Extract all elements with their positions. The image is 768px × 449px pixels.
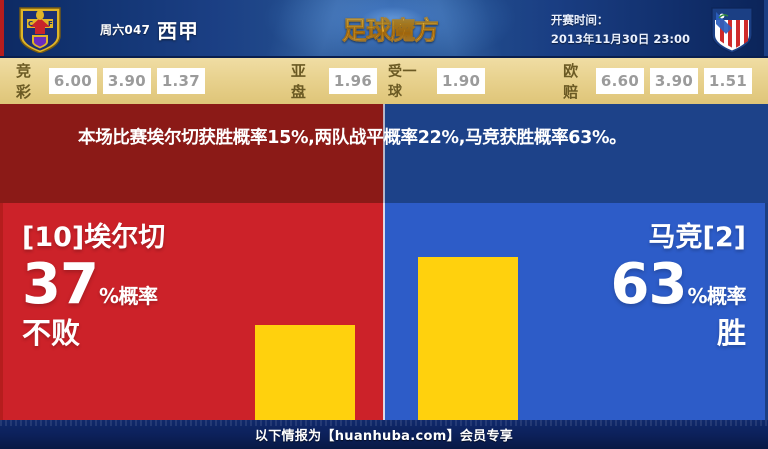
away-team-info: 马竞[2] 63 %概率 胜 [496,221,746,351]
home-team-info: [10]埃尔切 37 %概率 不败 [22,221,272,351]
odds-jingcai-away[interactable]: 1.37 [157,68,205,94]
kickoff-label: 开赛时间： [551,12,609,28]
odds-label-asia: 亚盘 [291,60,319,102]
atletico-madrid-crest-icon [708,5,756,53]
home-outcome-label: 不败 [22,315,272,351]
home-probability-value: 37 [22,257,98,313]
odds-group-jingcai: 竞彩 6.00 3.90 1.37 [16,60,205,102]
odds-jingcai-draw[interactable]: 3.90 [103,68,151,94]
odds-asia-handicap: 受一球 [383,61,431,101]
kickoff-time: 2013年11月30日 23:00 [551,31,690,47]
round-number: 周六047 [100,21,150,38]
odds-label-jingcai: 竞彩 [16,60,39,102]
svg-text:F: F [48,20,53,28]
home-probability-suffix: %概率 [99,286,158,306]
match-probability-infographic: C F 周六047 西甲 足球魔方 [0,0,768,449]
kickoff-info: 开赛时间： 2013年11月30日 23:00 [551,0,690,58]
odds-label-euro: 欧赔 [563,60,586,102]
away-probability-suffix: %概率 [687,286,746,306]
odds-jingcai-home[interactable]: 6.00 [49,68,97,94]
probability-summary-text: 本场比赛埃尔切获胜概率15%,两队战平概率22%,马竞获胜概率63%。 [0,104,768,203]
away-team-name: 马竞[2] [496,221,746,255]
home-team-name: [10]埃尔切 [22,221,272,255]
away-probability-value: 63 [611,257,687,313]
home-team-panel: [10]埃尔切 37 %概率 不败 [0,203,384,420]
odds-asia-away[interactable]: 1.90 [437,68,485,94]
odds-euro-home[interactable]: 6.60 [596,68,644,94]
league-name: 西甲 [157,15,199,44]
home-probability-bar [255,325,355,420]
league-info: 周六047 西甲 [100,0,199,58]
match-header: C F 周六047 西甲 足球魔方 [0,0,768,58]
probability-chart: [10]埃尔切 37 %概率 不败 马竞[2] 63 %概率 胜 [0,203,768,420]
away-team-panel: 马竞[2] 63 %概率 胜 [384,203,768,420]
site-logo[interactable]: 足球魔方 [325,3,455,55]
logo-text: 足球魔方 [342,11,438,47]
probability-summary-banner: 本场比赛埃尔切获胜概率15%,两队战平概率22%,马竞获胜概率63%。 [0,104,768,203]
elche-crest-icon: C F [16,5,64,53]
odds-group-asia: 亚盘 1.96 受一球 1.90 [291,60,485,102]
membership-footer: 以下情报为【huanhuba.com】会员专享 [0,420,768,449]
odds-group-euro: 欧赔 6.60 3.90 1.51 [563,60,752,102]
membership-notice-text: 以下情报为【huanhuba.com】会员专享 [255,425,513,444]
away-probability-row: 63 %概率 [496,257,746,313]
away-outcome-label: 胜 [496,315,746,351]
odds-euro-draw[interactable]: 3.90 [650,68,698,94]
odds-euro-away[interactable]: 1.51 [704,68,752,94]
panel-left-edge [0,203,3,420]
panel-divider [383,203,385,420]
odds-asia-home[interactable]: 1.96 [329,68,377,94]
svg-text:C: C [28,20,33,28]
home-probability-row: 37 %概率 [22,257,272,313]
odds-bar: 竞彩 6.00 3.90 1.37 亚盘 1.96 受一球 1.90 欧赔 6.… [0,58,768,104]
header-right-edge [764,0,768,58]
header-left-edge [0,0,4,58]
